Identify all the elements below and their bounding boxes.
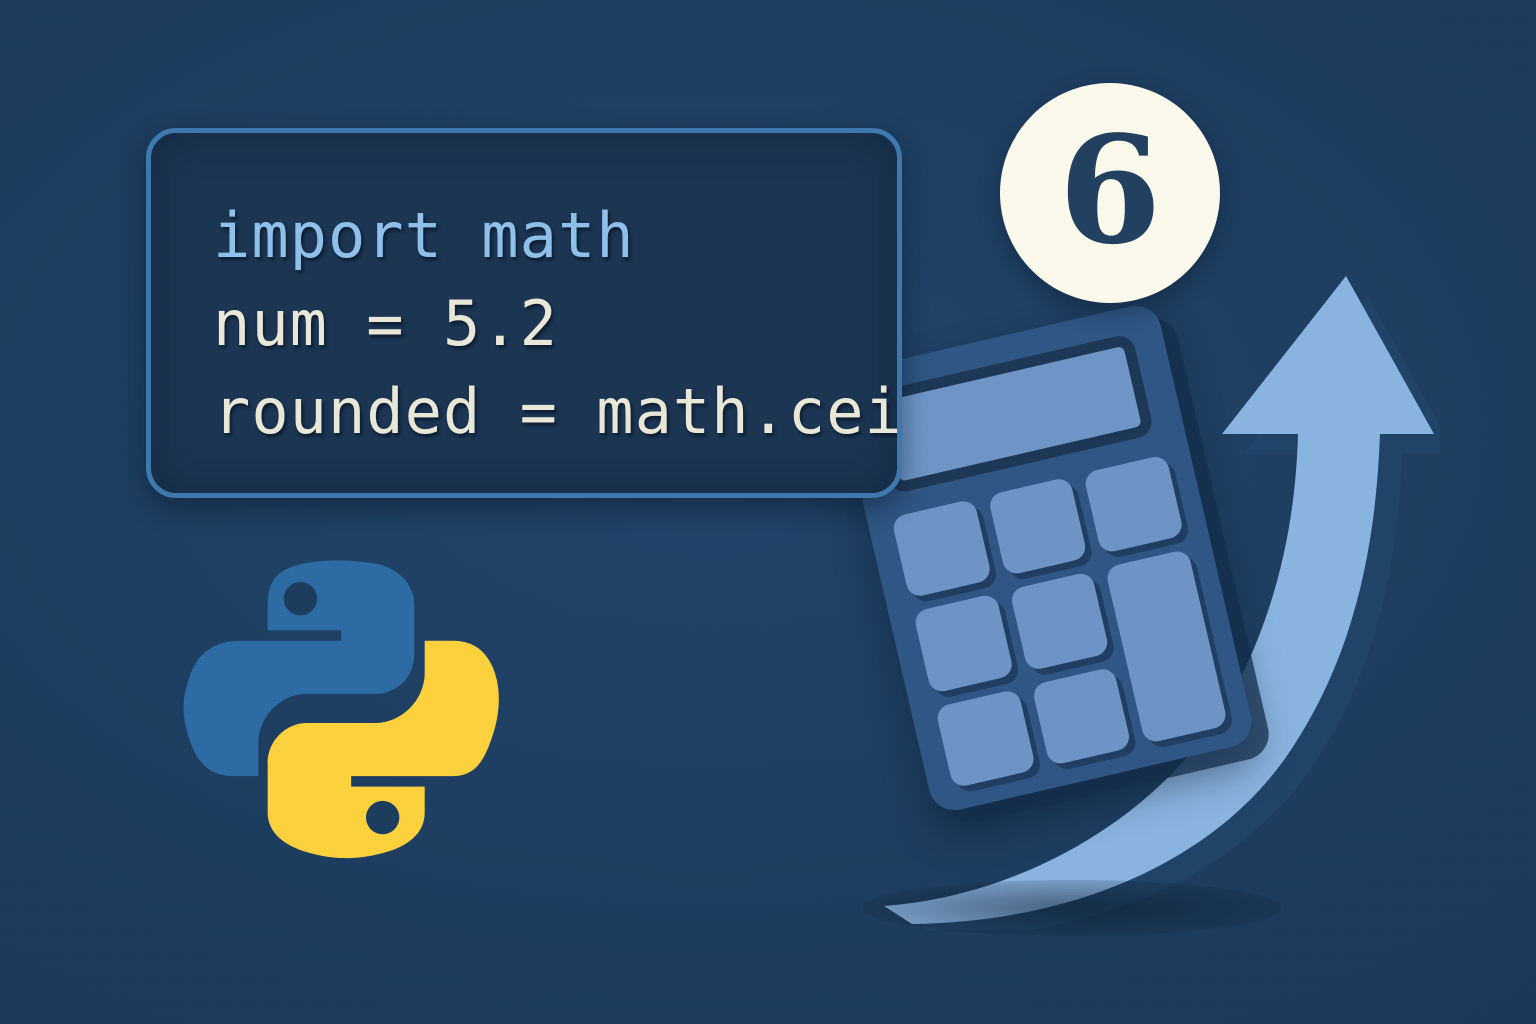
calculator-key[interactable] [987,476,1088,576]
result-badge-value: 6 [1059,116,1162,264]
result-badge: 6 [1000,83,1220,303]
calculator-key[interactable] [1009,571,1110,671]
illustration-canvas: 6 import math num = 5.2 rounded = math.c… [0,0,1536,1024]
calculator-key[interactable] [891,499,992,599]
calculator-floor-shadow [862,880,1282,936]
code-line-ceil-call: rounded = math.ceil( [213,375,902,448]
python-logo-icon [170,548,510,888]
calculator-key[interactable] [913,593,1014,693]
calculator-key[interactable] [935,688,1036,788]
python-logo-bottom-eye [366,801,399,834]
python-code-snippet: import math num = 5.2 rounded = math.cei… [146,128,902,498]
python-logo-top-eye [284,582,317,615]
calculator-keypad[interactable] [891,454,1228,788]
calculator-key[interactable] [1031,666,1132,766]
code-line-assignment: num = 5.2 [213,287,558,360]
code-line-import: import math [213,199,635,272]
calculator-key[interactable] [1083,454,1184,554]
